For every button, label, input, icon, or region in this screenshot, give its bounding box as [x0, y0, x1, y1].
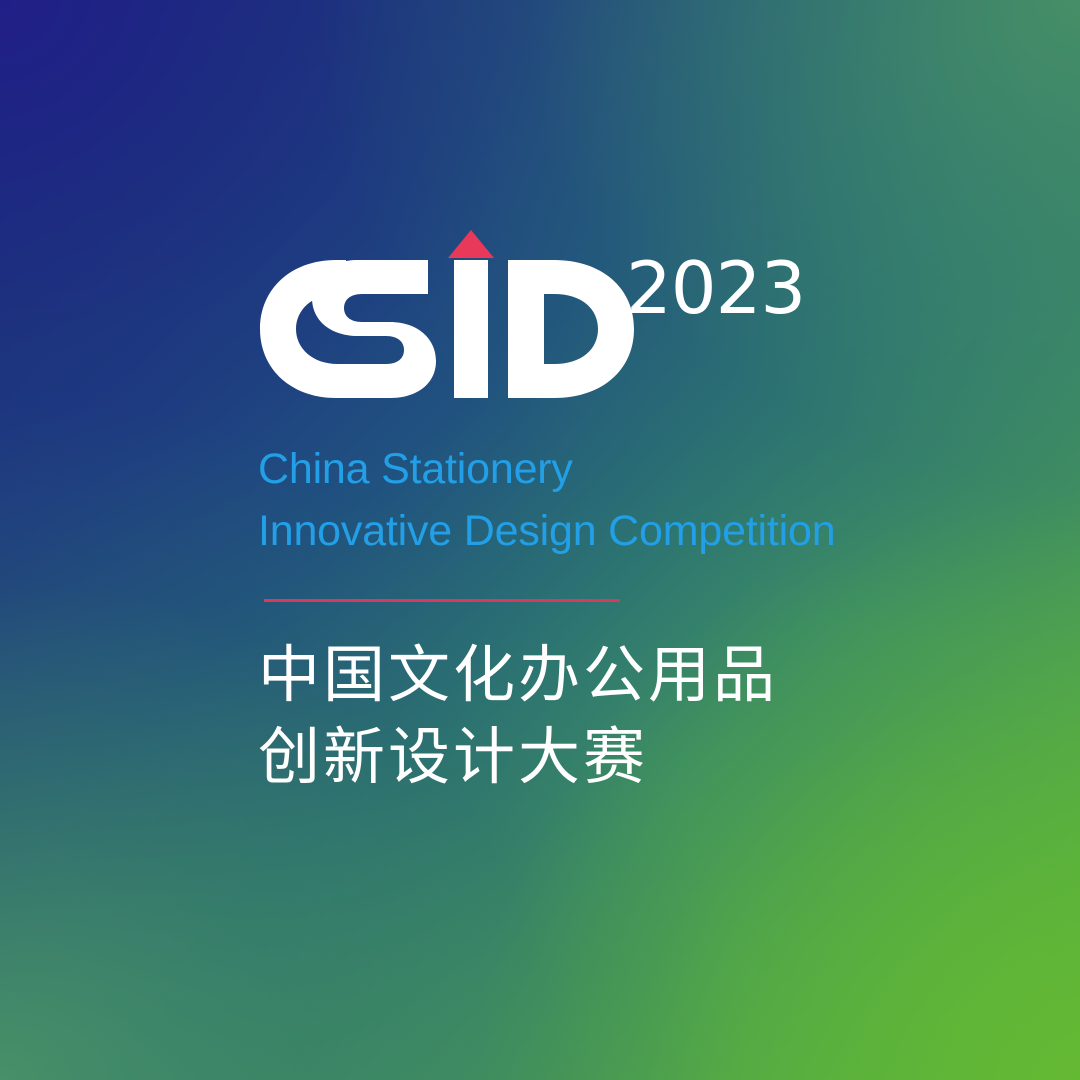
poster-content: 2023 China Stationery Innovative Design …	[258, 228, 958, 797]
csid-wordmark-svg	[258, 228, 658, 428]
logo-letter-d	[508, 260, 634, 398]
divider-rule	[264, 599, 620, 602]
chinese-title: 中国文化办公用品 创新设计大赛	[258, 634, 958, 798]
poster-canvas: 2023 China Stationery Innovative Design …	[0, 0, 1080, 1080]
logo-year: 2023	[626, 252, 805, 324]
chinese-title-line-1: 中国文化办公用品	[258, 634, 958, 716]
english-tagline: China Stationery Innovative Design Compe…	[258, 438, 958, 563]
tagline-line-2: Innovative Design Competition	[258, 500, 958, 562]
logo-letter-i	[454, 260, 488, 398]
chinese-title-line-2: 创新设计大赛	[258, 716, 958, 798]
tagline-line-1: China Stationery	[258, 445, 573, 493]
pencil-tip-triangle	[448, 230, 494, 258]
csid-logo: 2023	[258, 228, 958, 428]
